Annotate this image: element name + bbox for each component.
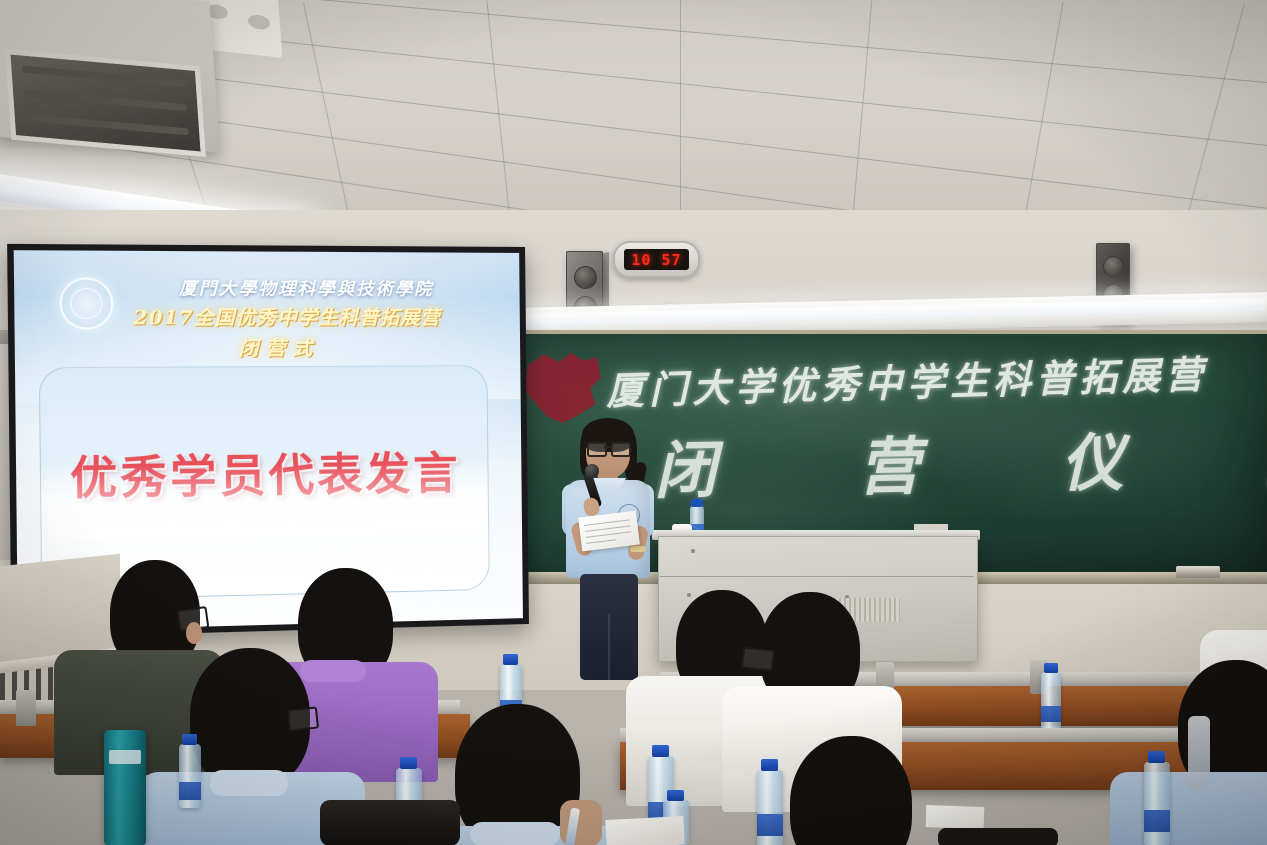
- water-bottle: [757, 770, 783, 845]
- glasses-icon: [287, 706, 319, 731]
- trouser-seam: [608, 614, 610, 680]
- bottle-behind-head: [1188, 716, 1210, 790]
- clock-display: 10 57: [624, 249, 689, 270]
- digital-wall-clock: 10 57: [613, 241, 700, 278]
- polo-collar: [470, 822, 560, 845]
- water-bottle: [1144, 762, 1170, 845]
- podium-panel-seam: [660, 576, 974, 577]
- slide-subtitle-line: 闭营式: [21, 333, 523, 362]
- clock-time-text: 10 57: [631, 251, 681, 269]
- blackboard-map-drawing: [518, 348, 604, 426]
- ac-vent-grille: [5, 49, 206, 157]
- classroom-photo: 10 57 厦门大学优秀中学生科普拓展营 闭 营 仪 式 厦門大學物理科學與技術…: [0, 0, 1267, 845]
- paper-sheet: [926, 805, 985, 829]
- notebook: [605, 816, 684, 845]
- microphone-head-icon: [585, 464, 599, 478]
- blackboard-eraser: [1176, 566, 1220, 578]
- presenter: [548, 418, 668, 680]
- ear: [186, 622, 202, 644]
- bag: [938, 828, 1058, 845]
- presenter-glasses: [587, 442, 629, 454]
- water-bottle: [179, 744, 201, 808]
- water-bottle: [1041, 672, 1061, 730]
- slide-wave-decoration: [41, 462, 488, 541]
- desk-leg: [16, 690, 36, 726]
- blackboard-subtitle-line: 闭 营 仪 式: [653, 408, 1267, 511]
- polo-collar: [210, 770, 288, 796]
- slide-org-line: 厦門大學物理科學與技術學院: [51, 273, 523, 300]
- purple-collar: [300, 660, 366, 682]
- slide-event-line: 2017全国优秀中学生科普拓展营: [32, 302, 523, 330]
- bottle-cap: [691, 499, 703, 507]
- glasses-bridge: [604, 446, 612, 448]
- presenter-wristwatch: [630, 546, 646, 552]
- teal-thermos: [104, 730, 146, 845]
- glasses-icon: [741, 646, 775, 671]
- bag: [320, 800, 460, 845]
- speech-paper: [578, 511, 640, 552]
